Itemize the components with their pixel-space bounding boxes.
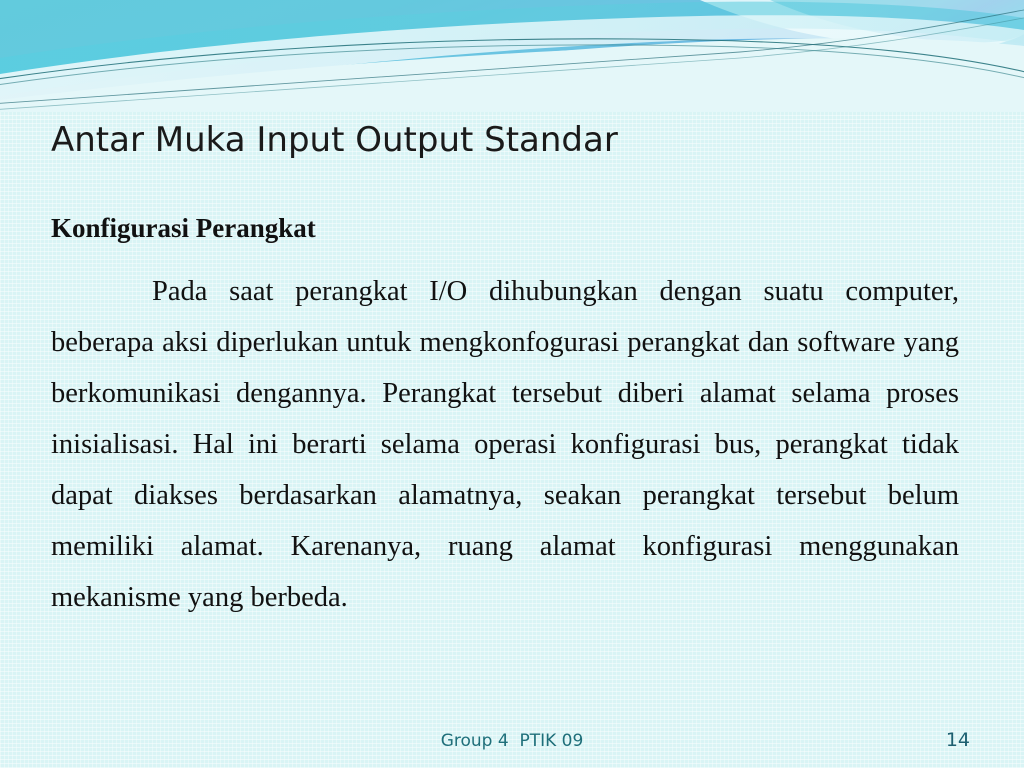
page-title: Antar Muka Input Output Standar xyxy=(51,118,951,162)
slide-body: Konfigurasi Perangkat Pada saat perangka… xyxy=(51,212,959,623)
footer-label: Group 4 PTIK 09 xyxy=(0,731,1024,751)
page-number: 14 xyxy=(946,729,970,751)
body-paragraph: Pada saat perangkat I/O dihubungkan deng… xyxy=(51,266,959,623)
wave-swoosh-decoration-icon xyxy=(0,0,1024,112)
section-heading: Konfigurasi Perangkat xyxy=(51,212,959,244)
presentation-slide: Antar Muka Input Output Standar Konfigur… xyxy=(0,0,1024,768)
